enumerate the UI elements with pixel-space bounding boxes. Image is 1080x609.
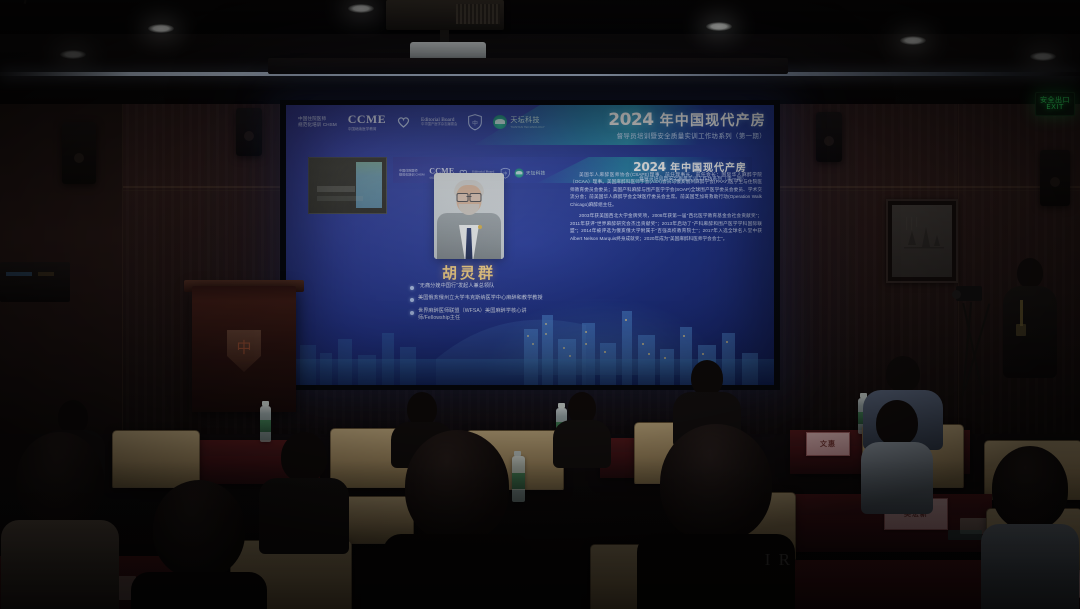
- editorial-board-sub: 中华围产医学杂志编委会: [421, 123, 457, 127]
- torso: [259, 478, 349, 554]
- speaker-cone: [1050, 177, 1060, 187]
- tiantan-tech-logo: 天坛科技 TIANTAN TECHNOLOGY: [493, 115, 544, 129]
- audience-member-foreground: [980, 446, 1080, 609]
- logo-line2: 规范化培训 CHSM: [298, 122, 337, 127]
- torso: [637, 534, 795, 609]
- audience-member: [860, 400, 934, 510]
- projection-screen: 中国住院医师 规范化培训 CHSM CCME 中国继续医学教育 Editoria…: [286, 105, 774, 385]
- framed-artwork: [886, 199, 958, 283]
- exit-sign-label: 安全出口 EXIT: [1040, 97, 1070, 111]
- head: [16, 432, 104, 528]
- logo-line2: 规范化培训 CHSM: [399, 173, 425, 176]
- ceiling-downlight: [706, 22, 732, 31]
- svg-text:中: 中: [472, 119, 478, 127]
- audience-member-foreground: [130, 480, 268, 609]
- ceiling-downlight: [60, 50, 86, 59]
- wall-speaker: [1040, 150, 1070, 206]
- slide-title-year: 2024: [608, 110, 653, 130]
- bottle-cap: [262, 401, 269, 406]
- speaker-portrait: [434, 173, 504, 259]
- ceiling-downlight: [1030, 52, 1056, 61]
- bottle-label: [260, 420, 271, 432]
- ceiling-downlight: [348, 4, 374, 13]
- slide-thumbnail: [308, 157, 387, 214]
- audience-member: [552, 392, 612, 464]
- tiantan-mark-icon: [515, 168, 524, 177]
- ink-painting-icon: [898, 211, 948, 267]
- svg-text:中: 中: [504, 171, 508, 176]
- ceiling-projector-housing: [386, 0, 504, 30]
- bottle-label: [512, 473, 525, 489]
- videographer-body: [1003, 286, 1057, 378]
- podium-emblem: 中: [227, 330, 261, 372]
- audience-member-foreground: [382, 430, 532, 609]
- wall-speaker: [816, 112, 842, 162]
- head: [153, 480, 245, 578]
- thumbnail-bar: [317, 196, 363, 201]
- screen-housing: [268, 58, 788, 74]
- chinese-standard-logo: 中国住院医师 规范化培训 CHSM: [399, 169, 425, 177]
- head: [691, 360, 723, 396]
- speaker-biography: 美国华人麻醉医师协会(CSAPE)理事、前任理事长、前任会长；国际华人麻醉学院（…: [570, 171, 762, 246]
- tiantan-name: 天坛科技: [510, 117, 540, 124]
- placard-text: 文惠: [820, 439, 836, 449]
- chinese-standard-logo: 中国住院医师 规范化培训 CHSM: [298, 116, 337, 127]
- speaker-name: 胡灵群: [406, 262, 532, 283]
- audience-member-foreground: [0, 432, 120, 609]
- ceiling-downlight: [148, 24, 174, 33]
- head: [407, 392, 437, 426]
- list-item: “无痛分娩中国行”发起人兼总领队: [410, 283, 546, 290]
- water-bottle: [512, 456, 525, 502]
- torso: [553, 420, 611, 468]
- sponsor-logo-row: 中国住院医师 规范化培训 CHSM CCME 中国继续医学教育 Editoria…: [298, 112, 545, 132]
- hospital-shield-icon: 中: [468, 114, 482, 130]
- audience-member: [258, 432, 350, 552]
- thumbnail-bar: [317, 186, 355, 192]
- slide-subtitle: 督导员培训暨安全质量实训工作坊系列（第一期）: [608, 131, 766, 140]
- torso: [1, 520, 119, 609]
- presentation-slide: 中国住院医师 规范化培训 CHSM CCME 中国继续医学教育 Editoria…: [286, 105, 774, 385]
- portrait-lapel-pin: [478, 225, 482, 229]
- bio-paragraph: 美国华人麻醉医师协会(CSAPE)理事、前任理事长、前任会长；国际华人麻醉学院（…: [570, 171, 762, 208]
- head: [405, 430, 509, 542]
- name-placard[interactable]: 文惠: [806, 432, 850, 456]
- torso: [383, 534, 531, 609]
- exit-sign: 安全出口 EXIT: [1035, 92, 1075, 116]
- handout-card: [948, 530, 982, 540]
- ccme-label: CCME: [348, 112, 386, 126]
- head: [886, 356, 920, 392]
- ccme-sub: 中国继续医学教育: [348, 127, 386, 132]
- videographer: [1002, 258, 1058, 378]
- head: [876, 400, 918, 446]
- video-camera-tripod: [952, 286, 1002, 396]
- av-led-strip: [38, 272, 54, 276]
- tiantan-label: 天坛科技 TIANTAN TECHNOLOGY: [510, 115, 544, 129]
- lanyard: [1020, 300, 1023, 326]
- torso: [981, 524, 1079, 609]
- wall-speaker: [236, 108, 262, 156]
- tiantan-sub: TIANTAN TECHNOLOGY: [510, 125, 544, 129]
- thumbnail-pane: [356, 162, 382, 208]
- tiantan-mark-icon: [493, 115, 507, 129]
- badge: [1016, 324, 1026, 336]
- glasses-icon: [457, 193, 482, 200]
- tiantan-name: 天坛科技: [526, 171, 546, 176]
- slide-title-block: 2024 年中国现代产房 督导员培训暨安全质量实训工作坊系列（第一期）: [608, 110, 766, 140]
- speaker-cone: [244, 131, 254, 141]
- credential-text: “无痛分娩中国行”发起人兼总领队: [418, 283, 494, 290]
- speaker-cone: [824, 136, 834, 146]
- torso: [861, 442, 933, 514]
- camera-lens: [952, 290, 961, 299]
- ccme-logo: CCME 中国继续医学教育: [348, 112, 386, 132]
- shirt-print: I R: [765, 550, 792, 570]
- speaker-cone: [74, 153, 84, 163]
- head: [660, 424, 772, 542]
- heart-icon: [397, 116, 410, 128]
- slide-header: 中国住院医师 规范化培训 CHSM CCME 中国继续医学教育 Editoria…: [286, 105, 774, 145]
- podium-emblem-glyph: 中: [236, 336, 251, 357]
- head: [992, 446, 1068, 530]
- wall-speaker: [62, 122, 96, 184]
- screenshot-root: 安全出口 EXIT 中国住院医师 规范化培训: [0, 0, 1080, 609]
- editorial-board-logo: Editorial Board 中华围产医学杂志编委会: [421, 117, 457, 127]
- tiantan-tech-logo: 天坛科技: [515, 168, 546, 177]
- podium: 中: [192, 286, 296, 412]
- ceiling-downlight: [900, 36, 926, 45]
- exit-sign-en: EXIT: [1046, 103, 1064, 111]
- logo-line1: 中国住院医师: [298, 116, 326, 121]
- slide-title-main: 年中国现代产房: [660, 110, 766, 130]
- bullet-icon: [410, 286, 414, 290]
- tiantan-label: 天坛科技: [526, 170, 546, 177]
- head: [281, 432, 327, 482]
- audience-member-foreground: I R: [636, 424, 796, 609]
- bio-paragraph: 2003年获美国西北大学金牌奖项，2008年获第一届“西北医学教育基金会社会贡献…: [570, 212, 762, 242]
- bottle-cap: [514, 451, 521, 456]
- head: [58, 400, 88, 434]
- av-led-strip: [6, 272, 32, 276]
- videographer-head: [1017, 258, 1043, 288]
- projector-vent: [456, 4, 500, 24]
- speaker-portrait-wrapper: [434, 173, 504, 259]
- torso: [131, 572, 267, 609]
- av-control-desk: [0, 262, 70, 302]
